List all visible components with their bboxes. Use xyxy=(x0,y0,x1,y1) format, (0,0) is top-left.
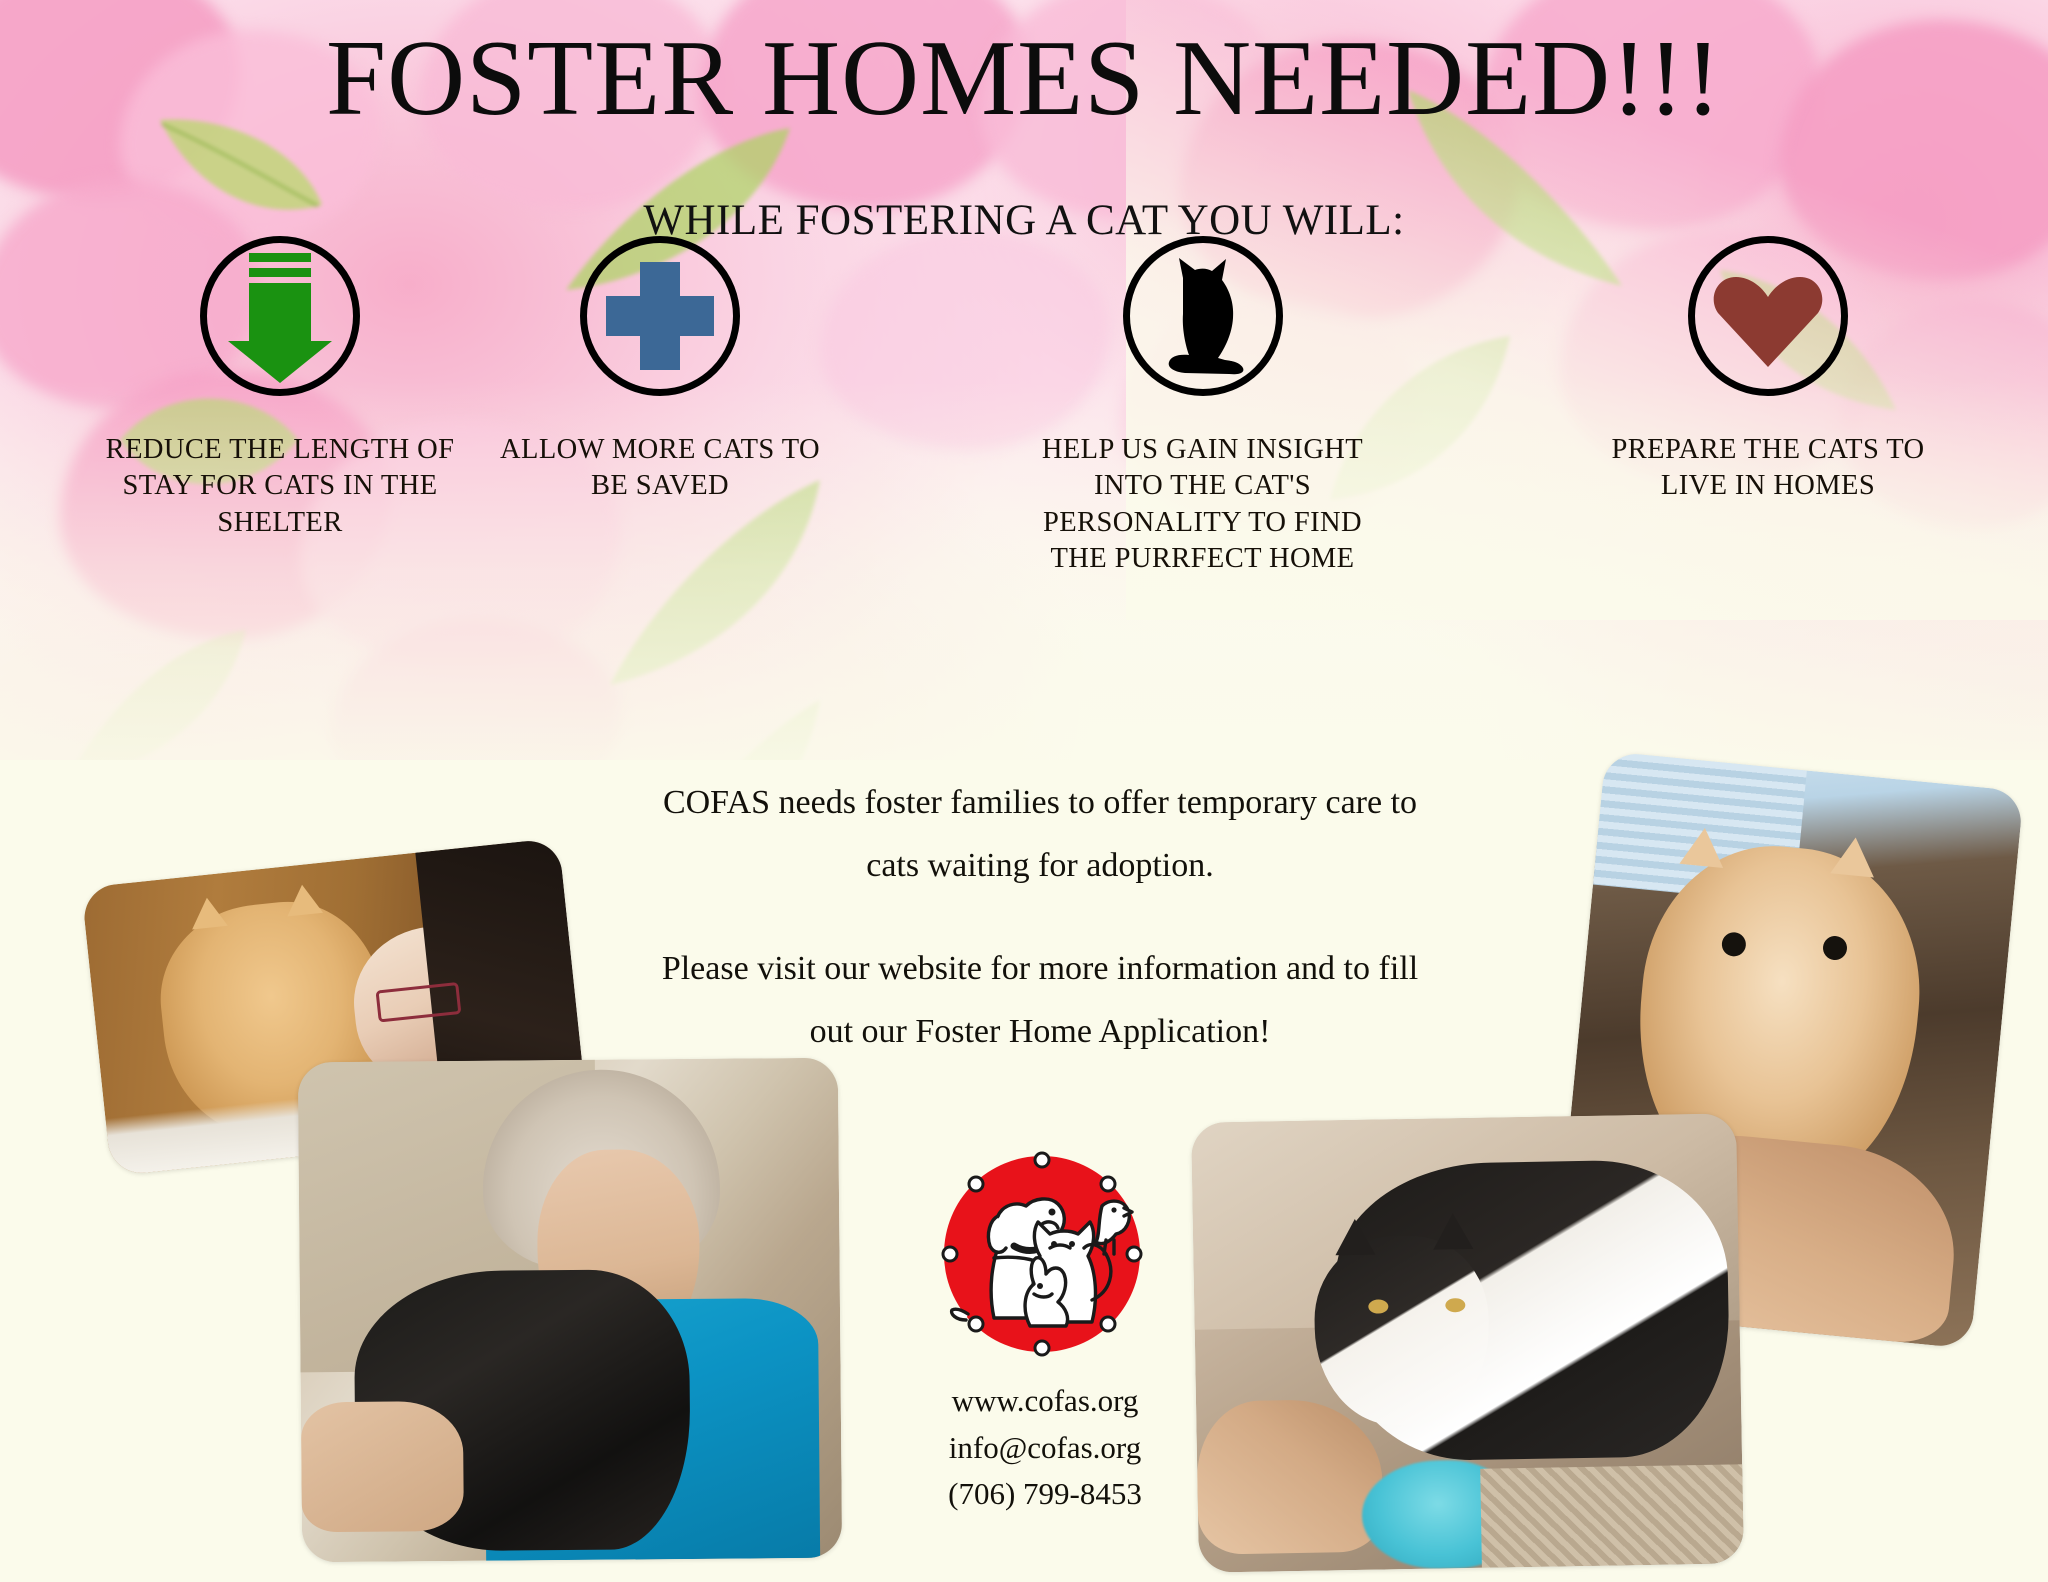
photo-woman-blackcat xyxy=(298,1058,842,1563)
icon-circle xyxy=(1688,236,1848,396)
benefit-item-prepare-homes: PREPARE THE CATS TO LIVE IN HOMES xyxy=(1578,236,1958,505)
heart-icon xyxy=(1712,269,1824,369)
benefit-item-personality: HELP US GAIN INSIGHT INTO THE CAT'S PERS… xyxy=(1025,236,1380,578)
benefit-label: PREPARE THE CATS TO LIVE IN HOMES xyxy=(1578,432,1958,505)
benefit-item-reduce-stay: REDUCE THE LENGTH OF STAY FOR CATS IN TH… xyxy=(90,236,470,541)
cat-ear xyxy=(189,896,228,930)
woman-arm xyxy=(301,1401,464,1532)
cat-ear xyxy=(1335,1219,1376,1256)
foster-homes-poster: FOSTER HOMES NEEDED!!! WHILE FOSTERING A… xyxy=(0,0,2048,1582)
phone-number: (706) 799-8453 xyxy=(860,1471,1230,1518)
contact-block: www.cofas.org info@cofas.org (706) 799-8… xyxy=(860,1378,1230,1518)
benefit-label: ALLOW MORE CATS TO BE SAVED xyxy=(495,432,825,505)
body-paragraph-1: COFAS needs foster families to offer tem… xyxy=(640,772,1440,898)
photo-tuxedo xyxy=(1191,1113,1744,1572)
page-title: FOSTER HOMES NEEDED!!! xyxy=(0,22,2048,135)
benefit-label: REDUCE THE LENGTH OF STAY FOR CATS IN TH… xyxy=(90,432,470,541)
icon-circle xyxy=(200,236,360,396)
tuxedo-cat-head xyxy=(1313,1235,1491,1427)
kitten-ear xyxy=(1679,826,1726,868)
benefits-row: REDUCE THE LENGTH OF STAY FOR CATS IN TH… xyxy=(0,236,2048,596)
body-paragraph-2: Please visit our website for more inform… xyxy=(640,938,1440,1064)
icon-circle xyxy=(580,236,740,396)
arrow-stem xyxy=(249,292,311,344)
woven-blanket xyxy=(1481,1464,1744,1568)
arrow-head xyxy=(228,341,332,383)
kitten-ear xyxy=(1830,835,1877,877)
website-link[interactable]: www.cofas.org xyxy=(860,1378,1230,1425)
body-copy: COFAS needs foster families to offer tem… xyxy=(640,772,1440,1064)
benefit-item-more-saved: ALLOW MORE CATS TO BE SAVED xyxy=(495,236,825,505)
down-arrow-icon xyxy=(228,253,332,379)
cofas-logo xyxy=(938,1150,1146,1358)
email-link[interactable]: info@cofas.org xyxy=(860,1425,1230,1472)
cat-ear xyxy=(284,883,323,917)
medical-cross-icon xyxy=(606,262,714,370)
cat-ear xyxy=(1433,1212,1474,1249)
benefit-label: HELP US GAIN INSIGHT INTO THE CAT'S PERS… xyxy=(1025,432,1380,578)
cat-silhouette-icon xyxy=(1155,256,1251,376)
cat-eye xyxy=(1445,1298,1465,1312)
icon-circle xyxy=(1123,236,1283,396)
